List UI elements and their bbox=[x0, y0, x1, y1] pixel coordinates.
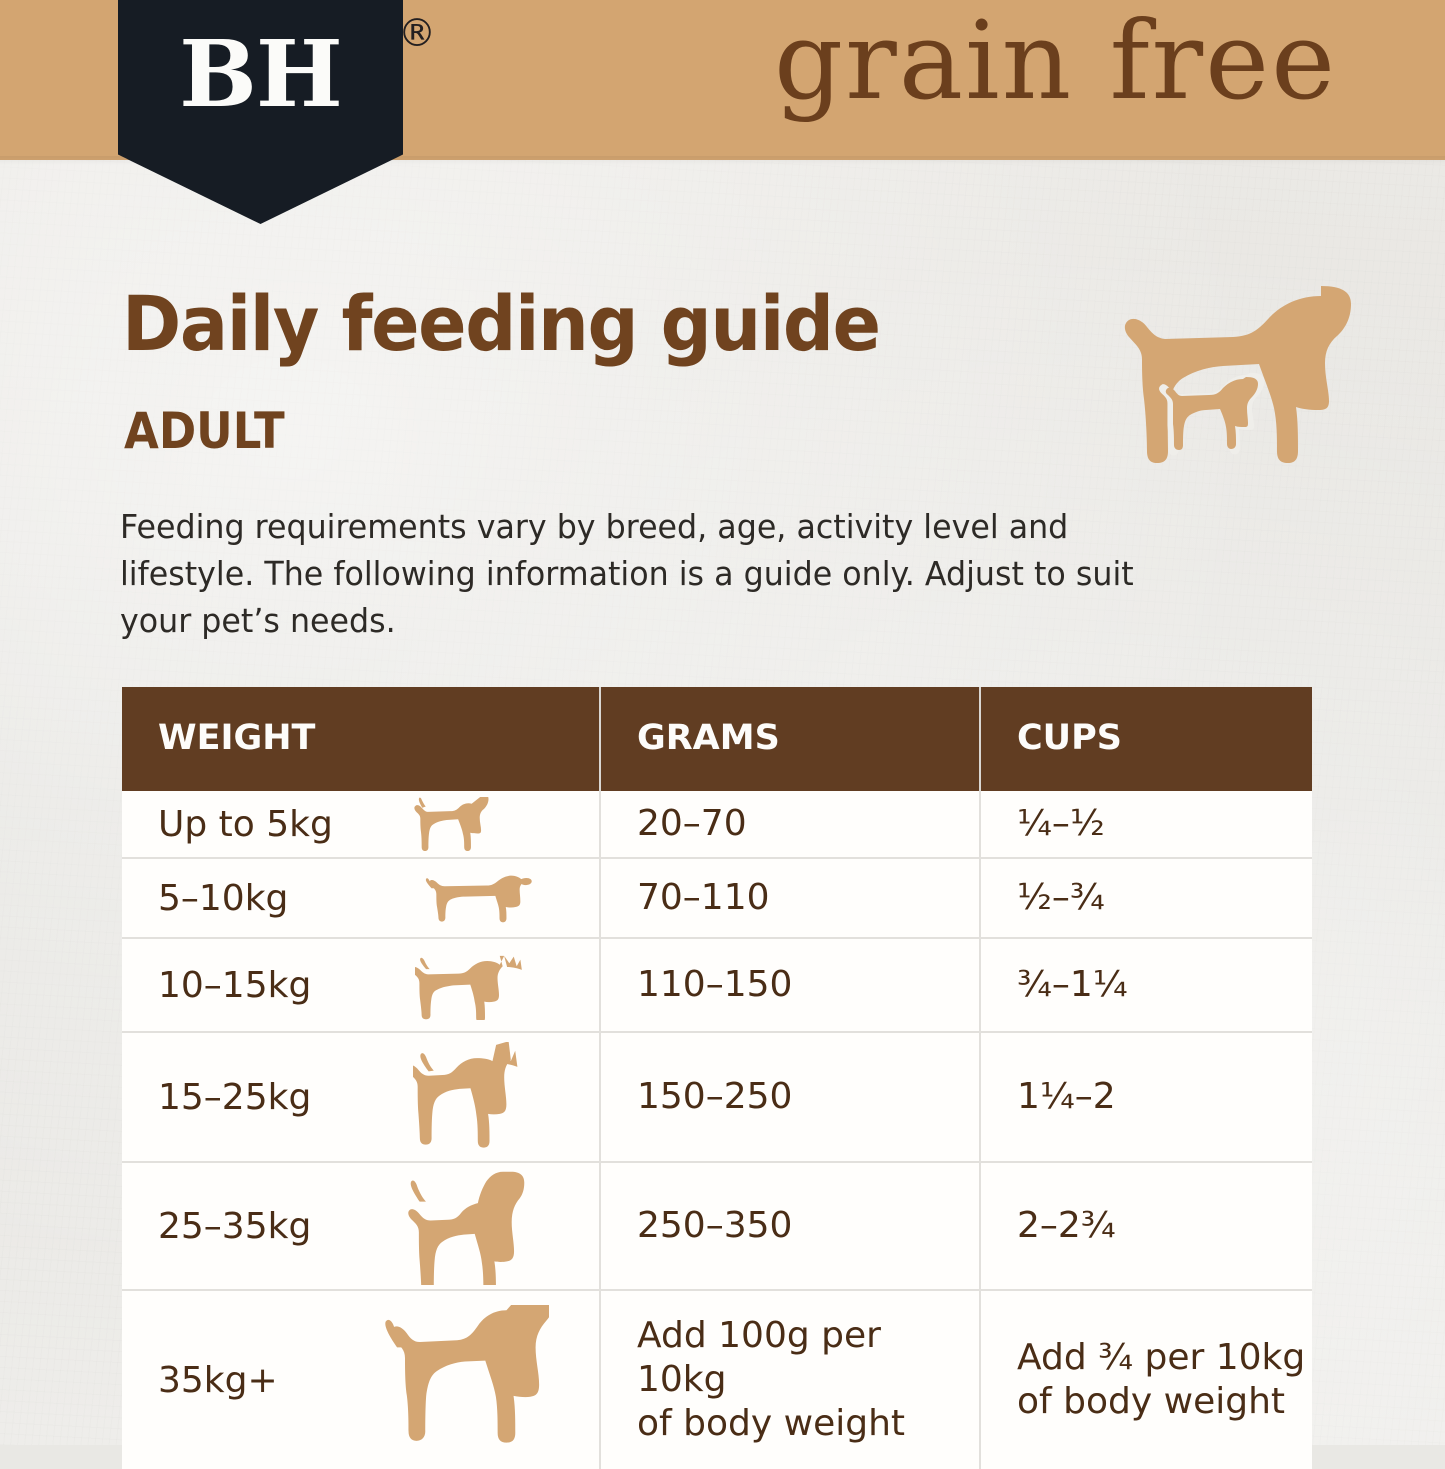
grams-line-1: Add 100g per 10kg bbox=[637, 1314, 979, 1402]
table-header-row: WEIGHT GRAMS CUPS bbox=[122, 687, 1312, 791]
cell-grams: 150–250 bbox=[600, 1032, 980, 1162]
cell-grams: 70–110 bbox=[600, 858, 980, 938]
cell-grams: Add 100g per 10kg of body weight bbox=[600, 1290, 980, 1469]
table-row: 10–15kg 110–150 ¾–1¼ bbox=[122, 938, 1312, 1032]
cell-cups: 2–2¾ bbox=[980, 1162, 1312, 1290]
large-dog-silhouette-icon bbox=[407, 1167, 533, 1285]
cell-weight: Up to 5kg bbox=[122, 791, 600, 858]
cell-cups: Add ¾ per 10kg of body weight bbox=[980, 1290, 1312, 1469]
grain-free-tagline: grain free bbox=[774, 8, 1337, 116]
table-row: 25–35kg 250–350 2–2¾ bbox=[122, 1162, 1312, 1290]
cell-weight: 5–10kg bbox=[122, 858, 600, 938]
cell-grams: 20–70 bbox=[600, 791, 980, 858]
dachshund-silhouette-icon bbox=[419, 870, 537, 926]
weight-label: Up to 5kg bbox=[158, 803, 333, 847]
cell-grams: 110–150 bbox=[600, 938, 980, 1032]
weight-label: 15–25kg bbox=[158, 1076, 311, 1120]
column-header-grams: GRAMS bbox=[600, 687, 980, 791]
column-header-cups: CUPS bbox=[980, 687, 1312, 791]
column-header-weight: WEIGHT bbox=[122, 687, 600, 791]
weight-label: 25–35kg bbox=[158, 1205, 311, 1249]
brand-shield-logo: BH bbox=[118, 0, 403, 224]
feeding-guide-table: WEIGHT GRAMS CUPS Up to 5kg 20–70 ¼–½ bbox=[122, 687, 1312, 1469]
weight-label: 5–10kg bbox=[158, 877, 288, 921]
grams-line-2: of body weight bbox=[637, 1402, 979, 1446]
cell-cups: ¾–1¼ bbox=[980, 938, 1312, 1032]
cell-cups: ¼–½ bbox=[980, 791, 1312, 858]
cell-cups: ½–¾ bbox=[980, 858, 1312, 938]
feeding-guide-page: grain free ® BH Daily feeding guide ADUL… bbox=[0, 0, 1445, 1445]
table-row: 35kg+ Add 100g per 10kg of body weight A… bbox=[122, 1290, 1312, 1469]
table-row: 15–25kg 150–250 1¼–2 bbox=[122, 1032, 1312, 1162]
bulldog-silhouette-icon bbox=[415, 950, 527, 1020]
cups-line-2: of body weight bbox=[1017, 1380, 1312, 1424]
small-dog-silhouette-icon bbox=[407, 797, 489, 851]
cell-weight: 15–25kg bbox=[122, 1032, 600, 1162]
medium-dog-silhouette-icon bbox=[413, 1042, 525, 1152]
giant-dog-silhouette-icon bbox=[381, 1305, 549, 1455]
weight-label: 35kg+ bbox=[158, 1359, 278, 1403]
table-row: Up to 5kg 20–70 ¼–½ bbox=[122, 791, 1312, 858]
cell-cups: 1¼–2 bbox=[980, 1032, 1312, 1162]
cups-line-1: Add ¾ per 10kg bbox=[1017, 1336, 1312, 1380]
cell-grams: 250–350 bbox=[600, 1162, 980, 1290]
page-title: Daily feeding guide bbox=[122, 286, 880, 362]
table-row: 5–10kg 70–110 ½–¾ bbox=[122, 858, 1312, 938]
cell-weight: 10–15kg bbox=[122, 938, 600, 1032]
life-stage-subtitle: ADULT bbox=[124, 406, 285, 456]
cell-weight: 25–35kg bbox=[122, 1162, 600, 1290]
registered-trademark-icon: ® bbox=[398, 14, 436, 52]
intro-paragraph: Feeding requirements vary by breed, age,… bbox=[120, 504, 1186, 645]
weight-label: 10–15kg bbox=[158, 964, 311, 1008]
adult-dog-and-puppy-icon bbox=[1085, 283, 1395, 498]
brand-logo-text: BH bbox=[179, 28, 342, 120]
cell-weight: 35kg+ bbox=[122, 1290, 600, 1469]
